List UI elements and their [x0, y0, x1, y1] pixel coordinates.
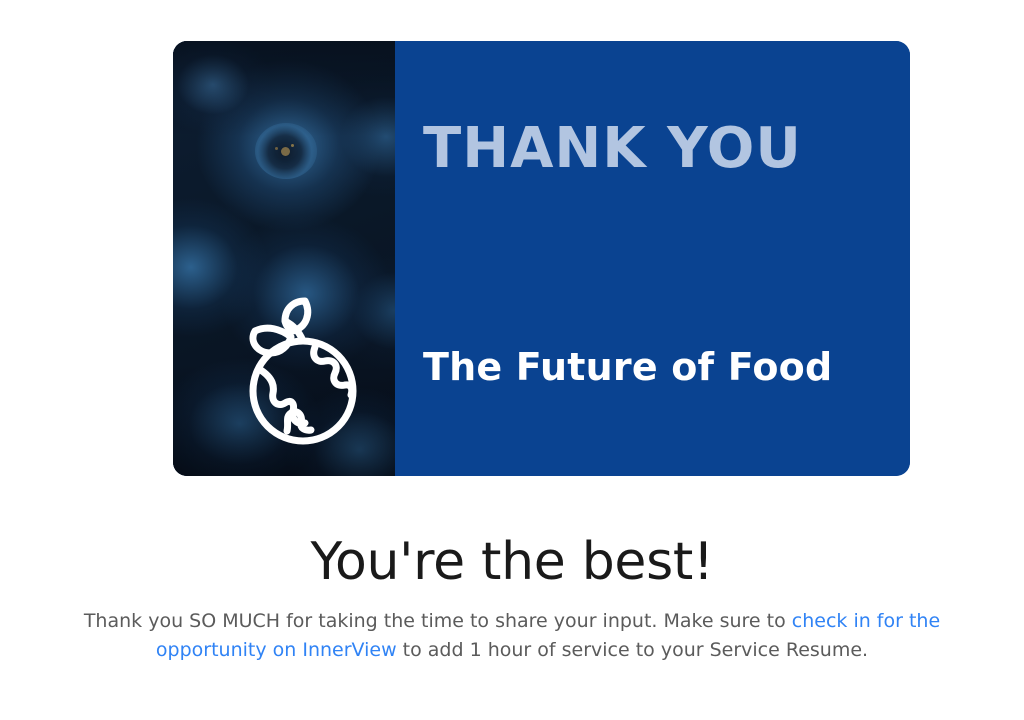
blueberry-photo	[173, 41, 395, 476]
body-text-after-link: to add 1 hour of service to your Service…	[397, 639, 868, 661]
banner-thank-you-text: THANK YOU	[423, 121, 910, 177]
confirmation-message: You're the best! Thank you SO MUCH for t…	[0, 532, 1024, 664]
body-text-before-link: Thank you SO MUCH for taking the time to…	[84, 610, 792, 632]
thank-you-banner-card: THANK YOU The Future of Food	[173, 41, 910, 476]
globe-sprout-logo-icon	[219, 291, 369, 451]
page-title: You're the best!	[0, 532, 1024, 593]
confirmation-body-text: Thank you SO MUCH for taking the time to…	[37, 607, 987, 664]
banner-tagline-text: The Future of Food	[423, 348, 910, 386]
thank-you-page: THANK YOU The Future of Food You're the …	[0, 0, 1024, 720]
banner-blue-panel: THANK YOU The Future of Food	[395, 41, 910, 476]
